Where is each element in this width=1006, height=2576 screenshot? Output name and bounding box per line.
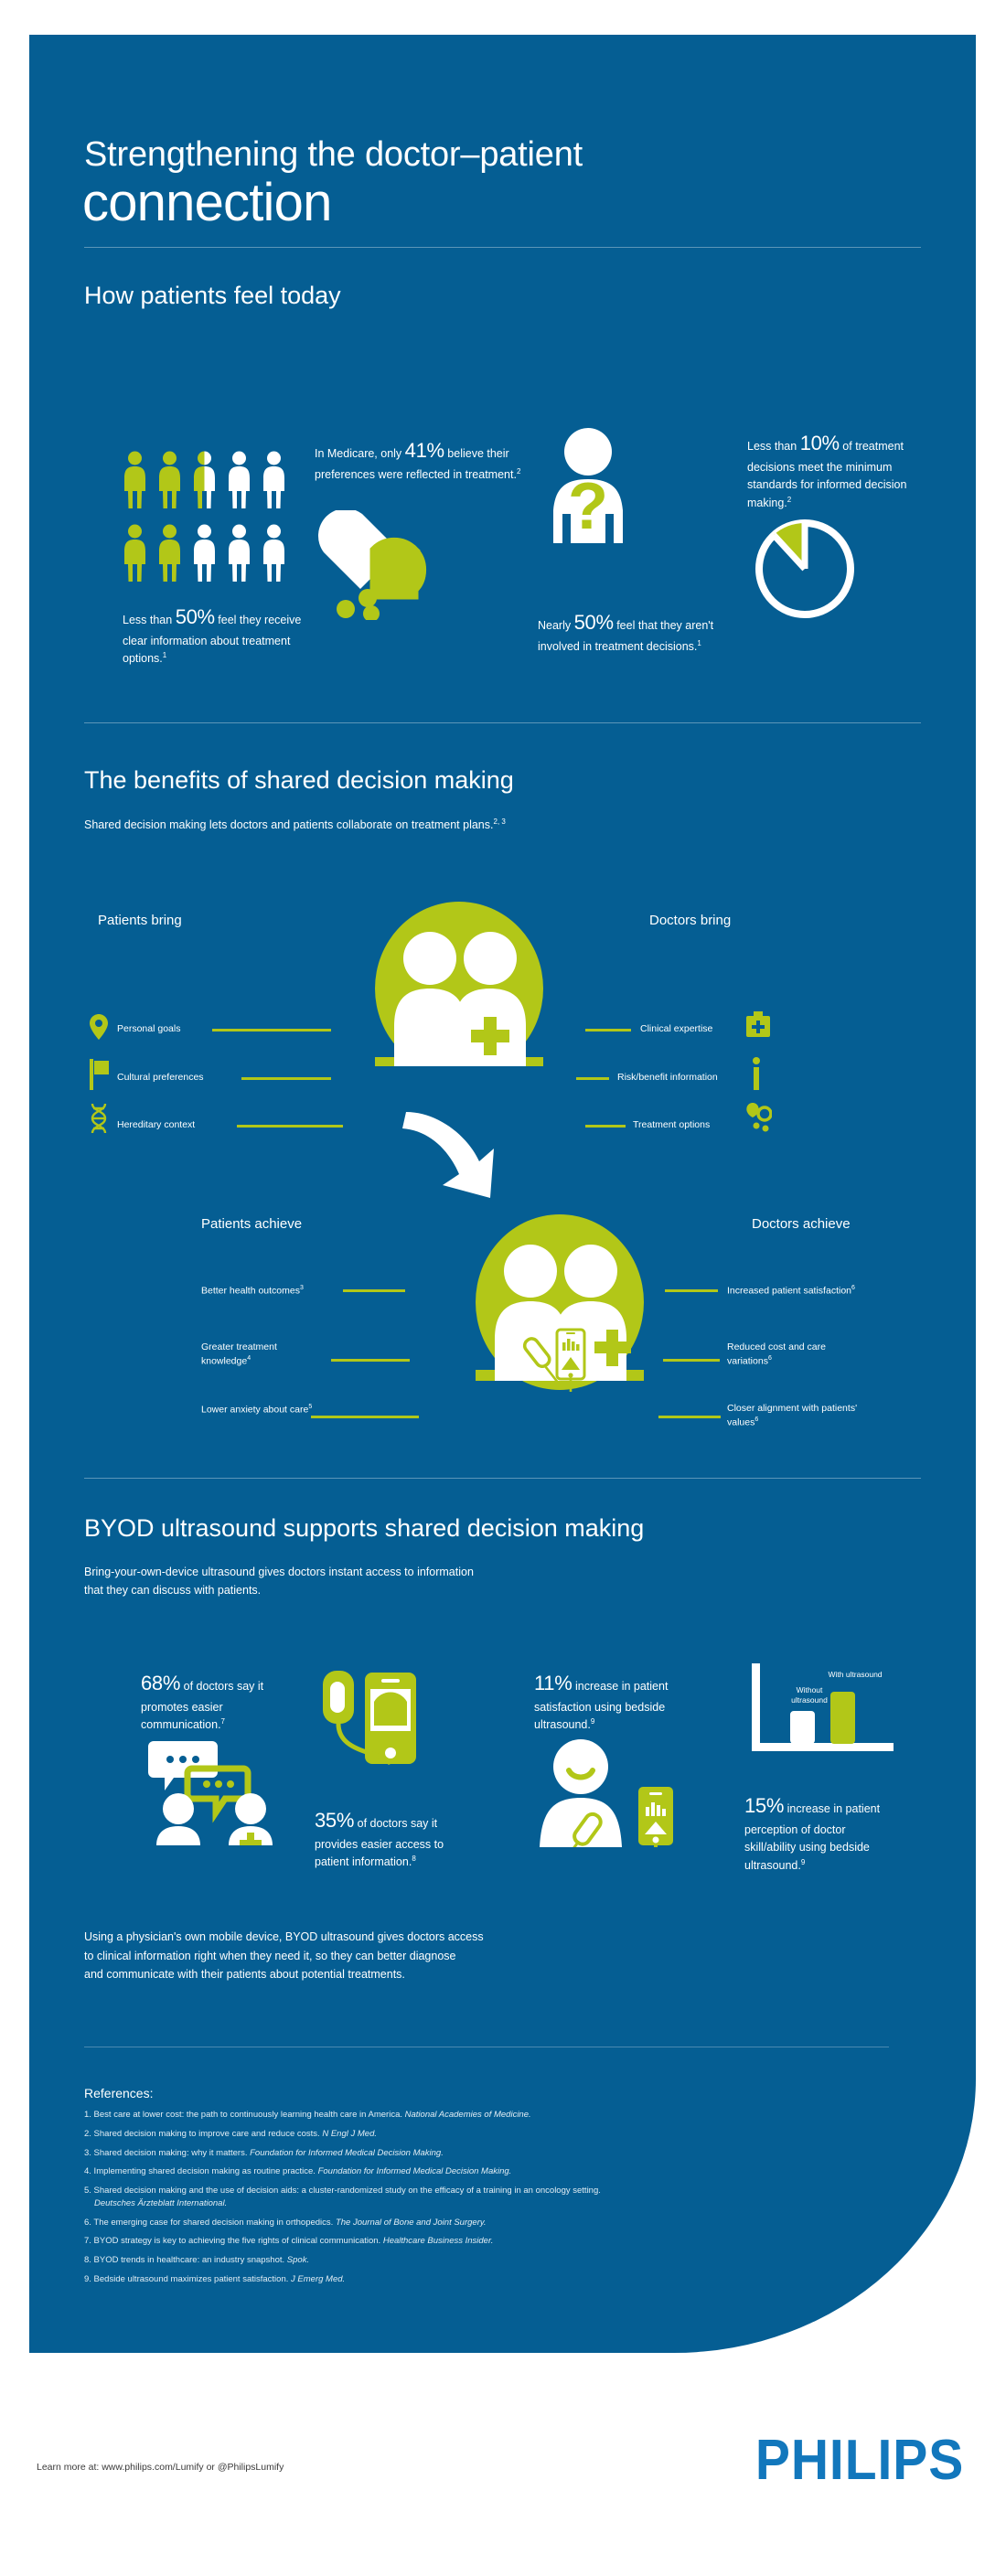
references-list: 1. Best care at lower cost: the path to … [84,2109,889,2293]
bring-right-label-1: Risk/benefit information [617,1072,718,1085]
stat-11-percent: 11% increase in patient satisfaction usi… [534,1668,699,1735]
section-2-subheading: Shared decision making lets doctors and … [84,817,506,834]
divider-1 [84,247,921,248]
svg-text:?: ? [568,470,608,543]
stat-ref: 2 [517,467,520,476]
label-ref: 4 [247,1355,251,1362]
infographic-page: Strengthening the doctor–patient connect… [0,0,1006,2576]
stat-value: 68% [141,1672,180,1694]
connector-line [665,1289,718,1292]
divider-4 [84,2047,889,2047]
bar-label-without: Without ultrasound [777,1685,841,1705]
reference-item: 2. Shared decision making to improve car… [84,2128,889,2141]
stat-informed-decision: Less than 10% of treatment decisions mee… [747,428,926,512]
label-text: Greater treatment knowledge [201,1341,277,1366]
stat-prefix: Less than [123,614,176,626]
patients-achieve-header: Patients achieve [201,1216,302,1232]
section-3-subheading-line1: Bring-your-own-device ultrasound gives d… [84,1564,474,1581]
connector-line [343,1289,405,1292]
reference-item: 3. Shared decision making: why it matter… [84,2147,889,2160]
label-text: Closer alignment with patients' values [727,1403,857,1427]
label-ref: 5 [308,1404,312,1410]
medical-bag-icon [746,1011,770,1042]
reference-item: 8. BYOD trends in healthcare: an industr… [84,2254,889,2267]
achieve-right-label-0: Increased patient satisfaction6 [727,1284,910,1298]
achieve-left-label-2: Lower anxiety about care5 [201,1403,320,1416]
stat-15-percent: 15% increase in patient perception of do… [744,1790,898,1875]
connector-line [585,1029,631,1031]
bring-left-label-1: Cultural preferences [117,1072,204,1085]
doctors-achieve-header: Doctors achieve [752,1216,851,1232]
bring-right-label-0: Clinical expertise [640,1023,712,1036]
reference-item: 6. The emerging case for shared decision… [84,2217,889,2229]
pie-chart-icon [750,512,860,626]
ultrasound-probe-phone-icon [317,1667,427,1809]
section-3-heading: BYOD ultrasound supports shared decision… [84,1514,644,1543]
reference-item: 7. BYOD strategy is key to achieving the… [84,2235,889,2248]
label-ref: 6 [768,1355,772,1362]
divider-2 [84,722,921,723]
stat-ref: 8 [412,1855,415,1863]
stat-ref: 1 [163,651,166,659]
stat-35-percent: 35% of doctors say it provides easier ac… [315,1805,479,1872]
pills-icon [311,510,448,625]
achieve-right-label-2: Closer alignment with patients' values6 [727,1403,869,1429]
closing-paragraph: Using a physician's own mobile device, B… [84,1928,724,1984]
connector-line [331,1359,410,1362]
flag-icon [90,1059,110,1095]
connector-line [663,1359,720,1362]
patients-bring-header: Patients bring [98,913,182,928]
connector-line [237,1125,343,1128]
stat-ref: 7 [221,1717,225,1726]
stat-ref: 2 [787,496,791,504]
bring-left-label-2: Hereditary context [117,1119,195,1132]
stat-ref: 9 [591,1717,594,1726]
page-title-line1: Strengthening the doctor–patient [84,135,583,175]
connector-line [311,1416,419,1418]
closing-line-1: Using a physician's own mobile device, B… [84,1928,724,1947]
pills-icon [744,1103,772,1137]
dna-icon [90,1103,108,1138]
stat-ref: 1 [697,639,701,647]
stat-value: 15% [744,1794,784,1817]
shared-decision-figures-bring [345,902,573,1071]
label-text: Reduced cost and care variations [727,1341,826,1366]
stat-value: 50% [574,611,614,634]
divider-3 [84,1478,921,1479]
label-ref: 6 [754,1416,758,1423]
learn-more-text[interactable]: Learn more at: www.philips.com/Lumify or… [37,2462,284,2473]
closing-line-2: to clinical information right when they … [84,1947,724,1966]
stat-prefix: Nearly [538,619,574,632]
achieve-left-label-0: Better health outcomes3 [201,1284,348,1298]
connector-line [241,1077,331,1080]
bring-left-label-0: Personal goals [117,1023,180,1036]
achieve-right-label-1: Reduced cost and care variations6 [727,1341,864,1368]
bring-right-label-2: Treatment options [633,1119,710,1132]
connector-line [585,1125,626,1128]
reference-item: 1. Best care at lower cost: the path to … [84,2109,889,2122]
label-text: Better health outcomes [201,1286,300,1297]
connector-line [576,1077,609,1080]
subheading-text: Shared decision making lets doctors and … [84,818,494,831]
stat-68-percent: 68% of doctors say it promotes easier co… [141,1668,287,1735]
section-1-heading: How patients feel today [84,282,341,310]
reference-item: 4. Implementing shared decision making a… [84,2165,889,2178]
reference-item: 9. Bedside ultrasound maximizes patient … [84,2273,889,2286]
label-ref: 6 [851,1285,855,1291]
subheading-ref: 2, 3 [494,818,506,826]
bar-without-ultrasound [790,1711,815,1744]
section-3-subheading-line2: that they can discuss with patients. [84,1582,261,1599]
stat-not-involved: Nearly 50% feel that they aren't involve… [538,607,748,657]
closing-line-3: and communicate with their patients abou… [84,1965,724,1984]
stat-value: 35% [315,1809,354,1832]
person-question-icon: ? [538,426,638,551]
philips-logo: PHILIPS [755,2428,964,2493]
info-icon [752,1057,761,1095]
connector-line [212,1029,331,1031]
stat-clear-information: Less than 50% feel they receive clear in… [123,602,319,668]
section-2-heading: The benefits of shared decision making [84,766,514,795]
patient-scan-icon [530,1737,695,1852]
label-ref: 3 [300,1285,304,1291]
stat-value: 41% [405,439,444,462]
stat-value: 50% [176,605,215,628]
reference-item: 5. Shared decision making and the use of… [84,2185,889,2210]
page-title-line2: connection [82,172,332,233]
people-pictogram-grid [123,451,296,586]
stat-value: 11% [534,1672,573,1694]
stat-medicare-preferences: In Medicare, only 41% believe their pref… [315,435,527,485]
achieve-left-label-1: Greater treatment knowledge4 [201,1341,320,1368]
stat-value: 10% [800,432,840,454]
stat-ref: 9 [801,1858,805,1866]
connector-line [658,1416,721,1418]
down-arrow-icon [395,1106,505,1212]
label-text: Increased patient satisfaction [727,1286,851,1297]
doctors-bring-header: Doctors bring [649,913,731,928]
label-text: Lower anxiety about care [201,1405,308,1416]
shared-decision-figures-achieve [445,1213,674,1396]
stat-prefix: Less than [747,440,800,453]
conversation-icon [137,1737,297,1850]
location-pin-icon [90,1014,108,1044]
bar-label-with: With ultrasound [827,1670,883,1680]
blue-panel: Strengthening the doctor–patient connect… [29,35,976,2353]
stat-prefix: In Medicare, only [315,447,405,460]
references-title: References: [84,2086,153,2100]
